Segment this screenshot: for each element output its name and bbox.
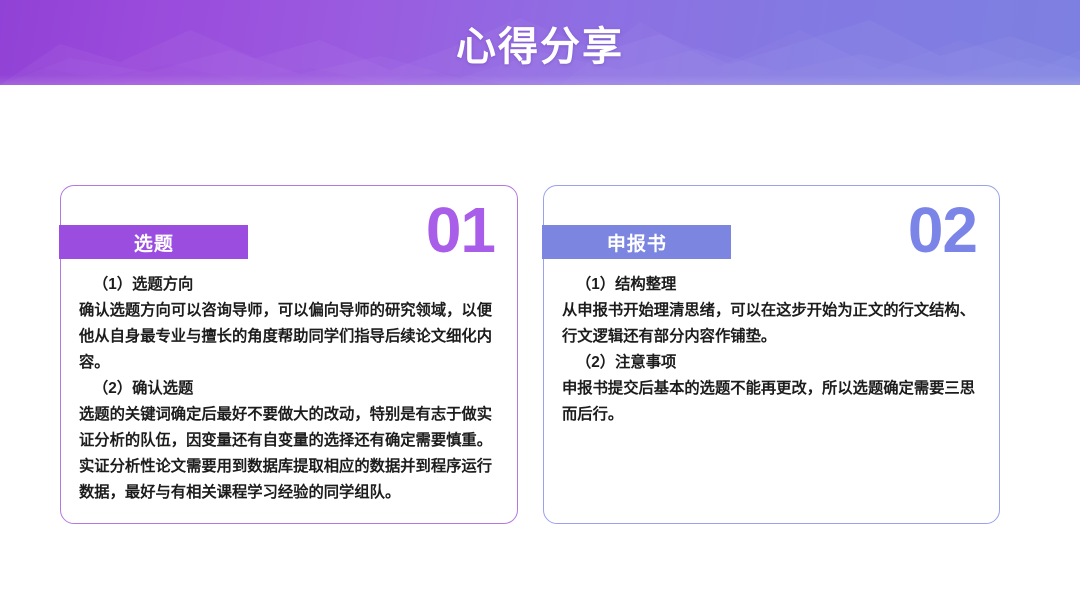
card-section-paragraph: 申报书提交后基本的选题不能再更改，所以选题确定需要三思而后行。 [562,376,980,428]
card-body: （1）结构整理 从申报书开始理清思绪，可以在这步开始为正文的行文结构、行文逻辑还… [562,272,980,428]
card-body: （1）选题方向 确认选题方向可以咨询导师，可以偏向导师的研究领域，以便他从自身最… [79,272,499,506]
card-section-paragraph: 确认选题方向可以咨询导师，可以偏向导师的研究领域，以便他从自身最专业与擅长的角度… [79,298,499,376]
card-number: 01 [426,198,495,262]
card-badge-label: 申报书 [542,225,731,259]
card-section-heading: （2）注意事项 [562,350,980,376]
card-application-form: 申报书 02 （1）结构整理 从申报书开始理清思绪，可以在这步开始为正文的行文结… [543,185,1000,524]
card-section-paragraph: 从申报书开始理清思绪，可以在这步开始为正文的行文结构、行文逻辑还有部分内容作铺垫… [562,298,980,350]
card-section-heading: （1）结构整理 [562,272,980,298]
card-topic-selection: 选题 01 （1）选题方向 确认选题方向可以咨询导师，可以偏向导师的研究领域，以… [60,185,518,524]
card-section-paragraph: 选题的关键词确定后最好不要做大的改动，特别是有志于做实证分析的队伍，因变量还有自… [79,402,499,506]
card-badge-label: 选题 [59,225,248,259]
card-section-heading: （1）选题方向 [79,272,499,298]
page-title: 心得分享 [0,0,1080,85]
slide-header-banner: 心得分享 [0,0,1080,85]
card-number: 02 [908,198,977,262]
card-section-heading: （2）确认选题 [79,376,499,402]
